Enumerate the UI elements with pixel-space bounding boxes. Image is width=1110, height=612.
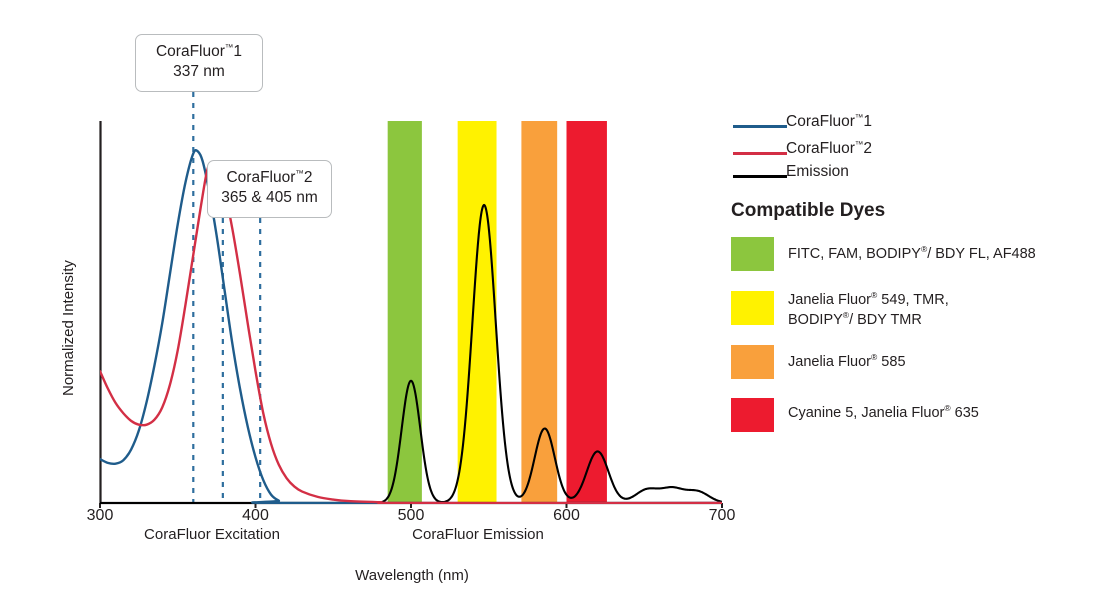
legend-swatch-emission <box>733 175 787 178</box>
dye-label-line1: FITC, FAM, BODIPY®/ BDY FL, AF488 <box>788 245 1036 265</box>
emission-band-red <box>567 121 607 503</box>
x-tick-label-700: 700 <box>709 507 736 525</box>
dye-label-line1: Cyanine 5, Janelia Fluor® 635 <box>788 404 979 424</box>
callout-corafluor2-title: CoraFluor™2 <box>220 168 319 188</box>
dye-swatch-0 <box>731 237 774 271</box>
emission-filter-bands <box>388 121 607 503</box>
dye-label-1: Janelia Fluor® 549, TMR,BODIPY®/ BDY TMR <box>788 291 949 330</box>
callout-corafluor1-value: 337 nm <box>148 62 250 82</box>
emission-band-green <box>388 121 422 503</box>
callout-corafluor1-title: CoraFluor™1 <box>148 42 250 62</box>
dye-label-3: Cyanine 5, Janelia Fluor® 635 <box>788 404 979 424</box>
legend-label-emission: Emission <box>786 163 849 181</box>
legend-label-corafluor2: CoraFluor™2 <box>786 140 872 158</box>
dye-swatch-1 <box>731 291 774 325</box>
dye-label-line1: Janelia Fluor® 585 <box>788 353 906 373</box>
x-axis-title: Wavelength (nm) <box>355 567 469 584</box>
dye-swatch-3 <box>731 398 774 432</box>
dye-label-line2: BODIPY®/ BDY TMR <box>788 311 949 331</box>
x-tick-label-600: 600 <box>553 507 580 525</box>
dye-swatch-2 <box>731 345 774 379</box>
callout-corafluor2: CoraFluor™2 365 & 405 nm <box>207 160 332 218</box>
x-axis-sublabel-excitation: CoraFluor Excitation <box>144 526 280 543</box>
x-tick-label-300: 300 <box>87 507 114 525</box>
dye-label-line1: Janelia Fluor® 549, TMR, <box>788 291 949 311</box>
y-axis-title: Normalized Intensity <box>60 236 77 396</box>
x-tick-label-500: 500 <box>398 507 425 525</box>
figure-canvas: CoraFluor™1 337 nm CoraFluor™2 365 & 405… <box>0 0 1110 612</box>
callout-corafluor1: CoraFluor™1 337 nm <box>135 34 263 92</box>
x-tick-label-400: 400 <box>242 507 269 525</box>
compatible-dyes-heading: Compatible Dyes <box>731 200 885 222</box>
legend-swatch-corafluor1 <box>733 125 787 128</box>
legend-label-corafluor1: CoraFluor™1 <box>786 113 872 131</box>
dye-label-2: Janelia Fluor® 585 <box>788 353 906 373</box>
dye-label-0: FITC, FAM, BODIPY®/ BDY FL, AF488 <box>788 245 1036 265</box>
legend-swatch-corafluor2 <box>733 152 787 155</box>
x-axis-sublabel-emission: CoraFluor Emission <box>412 526 544 543</box>
callout-corafluor2-value: 365 & 405 nm <box>220 188 319 208</box>
